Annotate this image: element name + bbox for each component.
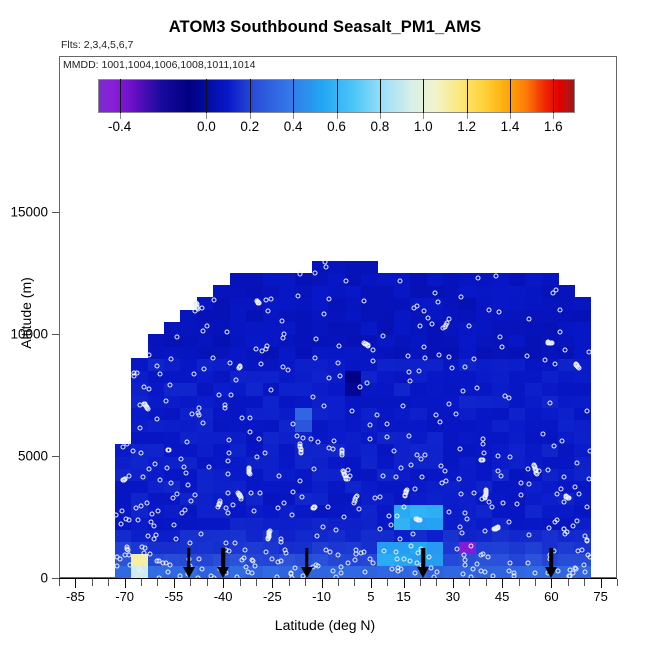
sample-point (457, 477, 462, 482)
sample-point (350, 408, 355, 413)
sample-point (526, 481, 531, 486)
sample-point (471, 490, 476, 495)
sample-point (290, 421, 295, 426)
sample-point (230, 503, 235, 508)
sample-point (146, 467, 151, 472)
x-axis-tick-label: -55 (164, 589, 183, 604)
sample-point (299, 451, 304, 456)
sample-point (412, 486, 417, 491)
sample-point (419, 457, 424, 462)
sample-point (163, 399, 168, 404)
sample-point (401, 403, 406, 408)
sample-point (482, 450, 487, 455)
sample-point (264, 347, 269, 352)
sample-point (503, 394, 508, 399)
sample-point (459, 531, 464, 536)
sample-point (341, 514, 346, 519)
sample-point (178, 456, 183, 461)
sample-point (563, 532, 568, 537)
x-axis-tick-label: 75 (593, 589, 607, 604)
sample-point (570, 523, 575, 528)
sample-point (507, 520, 512, 525)
x-axis-tick-label: 5 (367, 589, 374, 604)
sample-point (144, 501, 149, 506)
sample-point (480, 441, 485, 446)
x-axis-tick-label: 15 (396, 589, 410, 604)
sample-point (471, 356, 476, 361)
sample-point (279, 318, 284, 323)
sample-point (558, 330, 563, 335)
sample-point (436, 353, 441, 358)
sample-point (155, 509, 160, 514)
sample-point (297, 272, 302, 277)
sample-point (216, 392, 221, 397)
sample-point (200, 305, 205, 310)
sample-point (200, 420, 205, 425)
colorbar-tick-label: 0.0 (197, 119, 216, 134)
sample-point (422, 355, 427, 360)
sample-point (238, 364, 243, 369)
colorbar-tick-label: 1.2 (457, 119, 476, 134)
colorbar-tick (467, 79, 468, 113)
sample-point (175, 491, 180, 496)
colorbar-tick (337, 79, 338, 113)
colorbar-tick (120, 79, 121, 113)
x-axis-tick-label: -25 (263, 589, 282, 604)
sample-point (381, 474, 386, 479)
arrow-shaft (305, 548, 309, 568)
sample-point (439, 464, 444, 469)
sample-point (183, 507, 188, 512)
colorbar-tick-label: -0.4 (108, 119, 131, 134)
arrow-head (217, 567, 229, 578)
sample-point (412, 306, 417, 311)
sample-point (526, 532, 531, 537)
sample-point (373, 496, 378, 501)
sample-point (311, 506, 316, 511)
sample-point (119, 522, 124, 527)
sample-point (224, 330, 229, 335)
sample-point (459, 295, 464, 300)
sample-point (458, 525, 463, 530)
sample-point (549, 340, 554, 345)
sample-point (312, 467, 317, 472)
y-axis-tick (52, 334, 59, 335)
sample-point (482, 529, 487, 534)
sample-point (334, 527, 339, 532)
colorbar-tick (510, 79, 511, 113)
sample-point (157, 371, 162, 376)
sample-point (438, 419, 443, 424)
sample-point (254, 347, 259, 352)
sample-point (256, 436, 261, 441)
y-axis-ticks (52, 151, 59, 578)
sample-point (255, 298, 260, 303)
sample-point (561, 526, 566, 531)
sample-point (192, 493, 197, 498)
sample-point (225, 458, 230, 463)
sample-point (140, 474, 145, 479)
sample-point (234, 377, 239, 382)
sample-point (534, 472, 539, 477)
sample-point (465, 517, 470, 522)
sample-point (119, 509, 124, 514)
sample-point (495, 469, 500, 474)
sample-point (336, 344, 341, 349)
sample-point (279, 539, 284, 544)
sample-point (135, 517, 140, 522)
sample-point (326, 505, 331, 510)
sample-point (496, 310, 501, 315)
sample-point (501, 501, 506, 506)
sample-point (141, 401, 146, 406)
sample-point (188, 499, 193, 504)
sample-point (137, 425, 142, 430)
sample-point (122, 477, 127, 482)
arrow-shaft (187, 548, 191, 568)
colorbar-tick (380, 79, 381, 113)
sample-point (258, 491, 263, 496)
sample-point (385, 422, 390, 427)
sample-point (199, 531, 204, 536)
sample-point (327, 376, 332, 381)
x-axis-tick-label: -10 (312, 589, 331, 604)
sample-point (172, 523, 177, 528)
sample-point (420, 474, 425, 479)
arrow-shaft (221, 548, 225, 568)
sample-point (519, 480, 524, 485)
sample-point (398, 279, 403, 284)
x-axis-tick-label: -70 (115, 589, 134, 604)
sample-point (526, 467, 531, 472)
sample-point (356, 506, 361, 511)
sample-point (406, 434, 411, 439)
latitude-marker-arrows (59, 548, 617, 578)
arrow-head (545, 567, 557, 578)
sample-point (131, 373, 136, 378)
sample-point (411, 532, 416, 537)
sample-point (226, 471, 231, 476)
sample-point (171, 496, 176, 501)
sample-point (362, 298, 367, 303)
sample-point (352, 500, 357, 505)
sample-point (366, 343, 371, 348)
sample-point (332, 439, 337, 444)
mmdd-annotation: MMDD: 1001,1004,1006,1008,1011,1014 (63, 59, 255, 71)
x-axis-tick-label: -85 (66, 589, 85, 604)
sample-point (313, 271, 318, 276)
sample-point (173, 537, 178, 542)
sample-point (310, 395, 315, 400)
sample-point (443, 469, 448, 474)
colorbar-tick (250, 79, 251, 113)
sample-point (268, 297, 273, 302)
sample-point (322, 404, 327, 409)
colorbar-inner-ticks (98, 79, 575, 113)
sample-point (555, 517, 560, 522)
sample-point (403, 493, 408, 498)
sample-point (546, 526, 551, 531)
sample-point (165, 447, 170, 452)
sample-point (566, 496, 571, 501)
sample-point (575, 461, 580, 466)
sample-point (298, 479, 303, 484)
sample-point (426, 315, 431, 320)
sample-point (461, 389, 466, 394)
sample-point (377, 494, 382, 499)
plot-root: ATOM3 Southbound Seasalt_PM1_AMS Flts: 2… (0, 0, 650, 650)
sample-point (499, 345, 504, 350)
sample-point (181, 465, 186, 470)
sample-point (205, 323, 210, 328)
sample-point (432, 290, 437, 295)
sample-point (380, 333, 385, 338)
sample-point (586, 349, 591, 354)
sample-point (168, 383, 173, 388)
sample-point (542, 358, 547, 363)
sample-point (453, 411, 458, 416)
sample-point (153, 462, 158, 467)
sample-point (480, 457, 485, 462)
sample-point (295, 293, 300, 298)
sample-point (267, 529, 272, 534)
sample-point (146, 353, 151, 358)
sample-point (322, 259, 327, 264)
sample-point (552, 444, 557, 449)
sample-point (586, 477, 591, 482)
colorbar-tick (206, 79, 207, 113)
sample-point (330, 446, 335, 451)
sample-point (152, 523, 157, 528)
sample-point (553, 361, 558, 366)
sample-point (408, 462, 413, 467)
y-axis-tick-label: 5000 (18, 449, 48, 464)
sample-point (223, 541, 228, 546)
sample-point (394, 514, 399, 519)
sample-point (407, 379, 412, 384)
sample-point (496, 525, 501, 530)
sample-point (282, 332, 287, 337)
sample-point (175, 334, 180, 339)
sample-point (405, 353, 410, 358)
sample-point (184, 439, 189, 444)
sample-point (276, 473, 281, 478)
sample-point (324, 265, 329, 270)
sample-point (540, 431, 545, 436)
sample-point (158, 478, 163, 483)
sample-point (281, 500, 286, 505)
sample-point (262, 450, 267, 455)
sample-point (447, 402, 452, 407)
colorbar-tick-label: 0.4 (284, 119, 303, 134)
sample-point (370, 359, 375, 364)
sample-point (169, 356, 174, 361)
sample-point (553, 287, 558, 292)
sample-point (229, 392, 234, 397)
sample-point (436, 300, 441, 305)
sample-point (433, 412, 438, 417)
sample-point (240, 416, 245, 421)
sample-point (429, 321, 434, 326)
sample-point (286, 367, 291, 372)
sample-point (280, 364, 285, 369)
sample-point (562, 348, 567, 353)
sample-point (378, 526, 383, 531)
sample-point (154, 364, 159, 369)
sample-point (206, 465, 211, 470)
sample-point (340, 452, 345, 457)
sample-point (493, 273, 498, 278)
sample-point (343, 279, 348, 284)
sample-point (127, 517, 132, 522)
page-title: ATOM3 Southbound Seasalt_PM1_AMS (0, 18, 650, 37)
sample-point (462, 510, 467, 515)
colorbar-tick-label: 1.4 (501, 119, 520, 134)
sample-point (546, 468, 551, 473)
sample-point (384, 434, 389, 439)
sample-point (497, 334, 502, 339)
sample-point (192, 371, 197, 376)
sample-point (441, 326, 446, 331)
sample-point (138, 503, 143, 508)
sample-point (226, 491, 231, 496)
sample-point (374, 412, 379, 417)
sample-point (168, 480, 173, 485)
sample-point (483, 496, 488, 501)
sample-point (300, 494, 305, 499)
sample-point (254, 455, 259, 460)
sample-point (185, 482, 190, 487)
flights-annotation: Flts: 2,3,4,5,6,7 (61, 39, 133, 51)
sample-point (554, 491, 559, 496)
x-axis-minor-tick (617, 579, 618, 586)
sample-point (387, 513, 392, 518)
y-axis-tick (52, 456, 59, 457)
colorbar-tick-label: 1.6 (544, 119, 563, 134)
sample-point (125, 442, 130, 447)
sample-point (548, 400, 553, 405)
sample-point (276, 505, 281, 510)
sample-point (248, 490, 253, 495)
sample-point (187, 540, 192, 545)
sample-point (447, 355, 452, 360)
sample-point (576, 365, 581, 370)
sample-point (259, 348, 264, 353)
x-axis-tick-label: 45 (495, 589, 509, 604)
sample-point (394, 474, 399, 479)
sample-point (440, 480, 445, 485)
sample-point (233, 540, 238, 545)
sample-point (227, 450, 232, 455)
sample-point (218, 499, 223, 504)
x-axis-tick-labels: -85-70-55-40-25-1051530456075 (59, 579, 617, 599)
sample-point (247, 430, 252, 435)
sample-point (227, 361, 232, 366)
sample-point (584, 505, 589, 510)
arrow-shaft (422, 548, 426, 568)
sample-point (518, 493, 523, 498)
sample-point (496, 453, 501, 458)
sample-point (575, 518, 580, 523)
sample-point (321, 311, 326, 316)
sample-point (290, 490, 295, 495)
sample-point (201, 328, 206, 333)
sample-point (467, 324, 472, 329)
sample-point (487, 307, 492, 312)
sample-point (417, 368, 422, 373)
colorbar-tick (553, 79, 554, 113)
sample-point (584, 408, 589, 413)
x-axis-tick-label: -40 (214, 589, 233, 604)
sample-point (524, 354, 529, 359)
y-axis-title: Altitude (m) (18, 243, 34, 383)
sample-point (202, 367, 207, 372)
sample-point (194, 300, 199, 305)
colorbar-tick-label: 0.6 (327, 119, 346, 134)
sample-point (562, 474, 567, 479)
sample-point (290, 512, 295, 517)
y-axis-tick-label: 15000 (10, 205, 48, 220)
sample-point (113, 513, 118, 518)
sample-point (195, 410, 200, 415)
sample-point (222, 402, 227, 407)
sample-point (422, 344, 427, 349)
y-axis-tick (52, 212, 59, 213)
sample-point (247, 416, 252, 421)
sample-point (246, 466, 251, 471)
colorbar-tick (423, 79, 424, 113)
sample-point (398, 537, 403, 542)
sample-point (402, 505, 407, 510)
sample-point (155, 417, 160, 422)
sample-point (449, 365, 454, 370)
sample-point (585, 538, 590, 543)
sample-point (391, 448, 396, 453)
sample-point (259, 362, 264, 367)
sample-point (475, 275, 480, 280)
sample-point (368, 437, 373, 442)
sample-point (418, 323, 423, 328)
colorbar-tick (293, 79, 294, 113)
y-axis-tick-label: 0 (40, 571, 48, 586)
sample-point (365, 380, 370, 385)
sample-point (417, 517, 422, 522)
sample-point (357, 384, 362, 389)
sample-point (576, 492, 581, 497)
sample-point (227, 437, 232, 442)
sample-point (131, 448, 136, 453)
sample-point (183, 471, 188, 476)
sample-point (588, 448, 593, 453)
sample-point (337, 373, 342, 378)
sample-point (252, 508, 257, 513)
sample-point (326, 296, 331, 301)
sample-point (514, 502, 519, 507)
arrow-head (301, 567, 313, 578)
x-axis-tick-label: 60 (544, 589, 558, 604)
colorbar-tick-label: 0.8 (370, 119, 389, 134)
colorbar: -0.40.00.20.40.60.81.01.21.41.6 (98, 79, 575, 113)
sample-point (557, 307, 562, 312)
sample-point (308, 437, 313, 442)
sample-point (558, 486, 563, 491)
sample-point (225, 511, 230, 516)
sample-point (145, 534, 150, 539)
sample-point (313, 337, 318, 342)
sample-point (490, 505, 495, 510)
sample-point (371, 348, 376, 353)
sample-point (211, 355, 216, 360)
